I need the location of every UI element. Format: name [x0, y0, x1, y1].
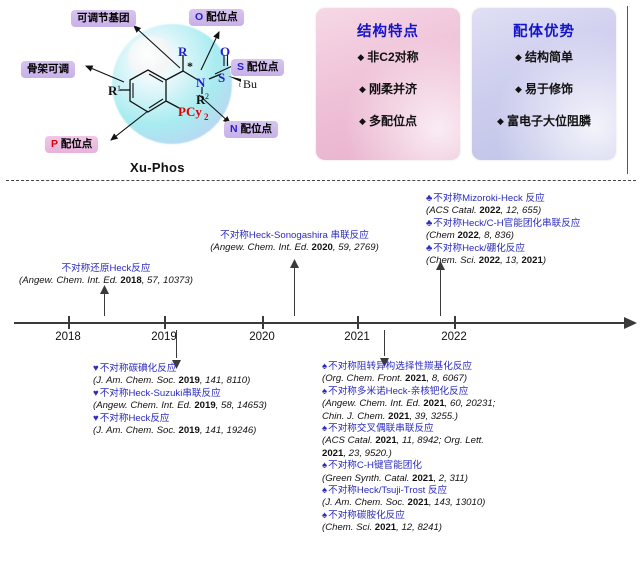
entry-2021-title-3-label: 不对称交叉偶联串联反应	[328, 423, 434, 434]
heart-bullet-icon: ♥	[93, 363, 99, 374]
card-item: ◆刚柔并济	[316, 82, 460, 97]
card-item-label: 易于修饰	[525, 82, 573, 96]
svg-text:t: t	[239, 81, 241, 89]
card-item: ◆结构简单	[472, 50, 616, 65]
entry-2021-citation-2: (Angew. Chem. Int. Ed. 2021, 60, 20231;	[322, 398, 495, 410]
entry-2021-title-3: ♠不对称交叉偶联串联反应	[322, 423, 495, 435]
entry-2020-above: 不对称Heck-Sonogashira 串联反应 (Angew. Chem. I…	[192, 230, 397, 255]
diamond-bullet-icon: ◆	[515, 52, 522, 62]
card-ligand-advantages: 配体优势 ◆结构简单 ◆易于修饰 ◆富电子大位阻膦	[472, 8, 616, 160]
card-item-label: 结构简单	[525, 50, 573, 64]
entry-2022-title-2: ♣不对称Heck/C-H官能团化串联反应	[426, 218, 580, 230]
callout-p-site-label: 配位点	[58, 138, 92, 150]
right-vertical-rule	[627, 6, 628, 174]
svg-text:2: 2	[204, 112, 209, 122]
entry-2018-title: 不对称还原Heck反应	[8, 263, 204, 275]
svg-text:1: 1	[117, 84, 121, 93]
tick-label-2022: 2022	[441, 331, 467, 343]
entry-2019-title-3-label: 不对称Heck反应	[100, 413, 170, 424]
svg-text:PCy: PCy	[178, 104, 202, 119]
diamond-bullet-icon: ◆	[515, 84, 522, 94]
card-item-label: 多配位点	[369, 114, 417, 128]
callout-p-site-atom: P	[51, 138, 58, 150]
entry-2021-citation-6: (Chem. Sci. 2021, 12, 8241)	[322, 522, 495, 534]
entry-2022-citation-1: (ACS Catal. 2022, 12, 655)	[426, 205, 580, 217]
card-item-label: 非C2对称	[367, 50, 418, 64]
card-item: ◆易于修饰	[472, 82, 616, 97]
figure-root: R * R 1 N R 2 S O t Bu PCy 2	[0, 0, 642, 585]
entry-2021-title-4: ♠不对称C-H键官能团化	[322, 460, 495, 472]
svg-text:R: R	[178, 46, 188, 59]
ligand-name-label: Xu-Phos	[130, 160, 185, 175]
spade-bullet-icon: ♠	[322, 460, 327, 471]
entry-2019-group: ♥不对称碳碘化反应 (J. Am. Chem. Soc. 2019, 141, …	[93, 363, 267, 437]
card-item-label: 刚柔并济	[369, 82, 417, 96]
callout-p-site: P 配位点	[45, 136, 98, 153]
entry-2021-citation-3b: 2021, 23, 9520.)	[322, 448, 495, 460]
entry-2022-title-1-label: 不对称Mizoroki-Heck 反应	[433, 193, 544, 204]
entry-2022-title-2-label: 不对称Heck/C-H官能团化串联反应	[433, 218, 580, 229]
svg-text:O: O	[220, 46, 230, 59]
tick-2022	[454, 316, 456, 329]
callout-n-site-label: 配位点	[238, 123, 272, 135]
entry-2019-title-2: ♥不对称Heck-Suzuki串联反应	[93, 388, 267, 400]
card-item: ◆富电子大位阻膦	[472, 114, 616, 129]
entry-2021-title-2: ♠不对称多米诺Heck-亲核钯化反应	[322, 386, 495, 398]
tick-2019	[164, 316, 166, 329]
chemical-structure-drawing: R * R 1 N R 2 S O t Bu PCy 2	[108, 46, 248, 132]
stem-2021-down	[384, 330, 385, 356]
entry-2019-title-3: ♥不对称Heck反应	[93, 413, 267, 425]
entry-2021-title-6-label: 不对称碳胺化反应	[328, 510, 405, 521]
callout-o-site: O 配位点	[189, 9, 244, 26]
entry-2021-citation-3: (ACS Catal. 2021, 11, 8942; Org. Lett.	[322, 435, 495, 447]
callout-o-site-atom: O	[195, 11, 203, 23]
diamond-bullet-icon: ◆	[497, 116, 504, 126]
entry-2022-citation-2: (Chem 2022, 8, 836)	[426, 230, 580, 242]
entry-2021-title-1-label: 不对称阻转异构选择性羰基化反应	[328, 361, 472, 372]
callout-skeleton-tunable: 骨架可调	[21, 61, 75, 78]
card-item: ◆多配位点	[316, 114, 460, 129]
card-item: ◆非C2对称	[316, 50, 460, 65]
stem-2019-down	[176, 330, 177, 358]
tick-label-2020: 2020	[249, 331, 275, 343]
entry-2018-citation: (Angew. Chem. Int. Ed. 2018, 57, 10373)	[8, 275, 204, 287]
entry-2019-title-1-label: 不对称碳碘化反应	[100, 363, 177, 374]
tick-2020	[262, 316, 264, 329]
heart-bullet-icon: ♥	[93, 413, 99, 424]
entry-2022-citation-3: (Chem. Sci. 2022, 13, 2021)	[426, 255, 580, 267]
entry-2021-citation-1: (Org. Chem. Front. 2021, 8, 6067)	[322, 373, 495, 385]
entry-2021-citation-4: (Green Synth. Catal. 2021, 2, 311)	[322, 473, 495, 485]
entry-2021-title-5: ♠不对称Heck/Tsuji-Trost 反应	[322, 485, 495, 497]
diamond-bullet-icon: ◆	[357, 52, 364, 62]
callout-tunable-group-label: 可调节基团	[77, 12, 130, 24]
svg-text:S: S	[218, 70, 225, 85]
section-dashed-divider	[6, 180, 636, 181]
callout-tunable-group: 可调节基团	[71, 10, 136, 27]
club-bullet-icon: ♣	[426, 243, 432, 254]
spade-bullet-icon: ♠	[322, 510, 327, 521]
entry-2021-title-5-label: 不对称Heck/Tsuji-Trost 反应	[328, 485, 447, 496]
entry-2021-title-4-label: 不对称C-H键官能团化	[328, 460, 422, 471]
entry-2022-title-3: ♣不对称Heck/硼化反应	[426, 243, 580, 255]
spade-bullet-icon: ♠	[322, 423, 327, 434]
callout-skeleton-tunable-label: 骨架可调	[27, 63, 69, 75]
card-ligand-advantages-title: 配体优势	[472, 20, 616, 41]
timeline-axis-arrowhead	[624, 316, 638, 334]
svg-text:*: *	[187, 59, 193, 73]
callout-o-site-label: 配位点	[203, 11, 237, 23]
entry-2021-title-1: ♠不对称阻转异构选择性羰基化反应	[322, 361, 495, 373]
diamond-bullet-icon: ◆	[359, 116, 366, 126]
diamond-bullet-icon: ◆	[359, 84, 366, 94]
callout-n-site: N 配位点	[224, 121, 278, 138]
entry-2022-group: ♣不对称Mizoroki-Heck 反应 (ACS Catal. 2022, 1…	[426, 193, 580, 267]
spade-bullet-icon: ♠	[322, 485, 327, 496]
entry-2020-citation: (Angew. Chem. Int. Ed. 2020, 59, 2769)	[192, 242, 397, 254]
entry-2019-title-1: ♥不对称碳碘化反应	[93, 363, 267, 375]
tick-label-2019: 2019	[151, 331, 177, 343]
timeline-axis	[14, 322, 628, 324]
entry-2021-group: ♠不对称阻转异构选择性羰基化反应 (Org. Chem. Front. 2021…	[322, 361, 495, 535]
entry-2021-title-6: ♠不对称碳胺化反应	[322, 510, 495, 522]
card-structure-features-list: ◆非C2对称 ◆刚柔并济 ◆多配位点	[316, 50, 460, 146]
svg-text:Bu: Bu	[243, 77, 257, 91]
spade-bullet-icon: ♠	[322, 386, 327, 397]
entry-2022-title-1: ♣不对称Mizoroki-Heck 反应	[426, 193, 580, 205]
callout-s-site: S 配位点	[231, 59, 284, 76]
card-ligand-advantages-list: ◆结构简单 ◆易于修饰 ◆富电子大位阻膦	[472, 50, 616, 146]
callout-s-site-label: 配位点	[244, 61, 278, 73]
svg-text:2: 2	[205, 92, 209, 101]
card-structure-features-title: 结构特点	[316, 20, 460, 41]
entry-2019-citation-1: (J. Am. Chem. Soc. 2019, 141, 8110)	[93, 375, 267, 387]
entry-2018-above: 不对称还原Heck反应 (Angew. Chem. Int. Ed. 2018,…	[8, 263, 204, 288]
entry-2021-citation-2b: Chin. J. Chem. 2021, 39, 3255.)	[322, 411, 495, 423]
entry-2021-title-2-label: 不对称多米诺Heck-亲核钯化反应	[328, 386, 468, 397]
card-structure-features: 结构特点 ◆非C2对称 ◆刚柔并济 ◆多配位点	[316, 8, 460, 160]
entry-2019-citation-3: (J. Am. Chem. Soc. 2019, 141, 19246)	[93, 425, 267, 437]
entry-2021-citation-5: (J. Am. Chem. Soc. 2021, 143, 13010)	[322, 497, 495, 509]
stem-2020-up-arrow	[290, 255, 299, 273]
callout-n-site-atom: N	[230, 123, 238, 135]
heart-bullet-icon: ♥	[93, 388, 99, 399]
tick-label-2018: 2018	[55, 331, 81, 343]
entry-2022-title-3-label: 不对称Heck/硼化反应	[433, 243, 525, 254]
spade-bullet-icon: ♠	[322, 361, 327, 372]
entry-2019-citation-2: (Angew. Chem. Int. Ed. 2019, 58, 14653)	[93, 400, 267, 412]
callout-s-site-atom: S	[237, 61, 244, 73]
entry-2019-title-2-label: 不对称Heck-Suzuki串联反应	[100, 388, 221, 399]
club-bullet-icon: ♣	[426, 218, 432, 229]
top-section: R * R 1 N R 2 S O t Bu PCy 2	[0, 0, 642, 182]
club-bullet-icon: ♣	[426, 193, 432, 204]
tick-label-2021: 2021	[344, 331, 370, 343]
card-item-label: 富电子大位阻膦	[507, 114, 591, 128]
svg-text:N: N	[196, 75, 206, 90]
tick-2021	[357, 316, 359, 329]
ligand-structure-panel: R * R 1 N R 2 S O t Bu PCy 2	[0, 0, 312, 182]
entry-2020-title: 不对称Heck-Sonogashira 串联反应	[192, 230, 397, 242]
tick-2018	[68, 316, 70, 329]
